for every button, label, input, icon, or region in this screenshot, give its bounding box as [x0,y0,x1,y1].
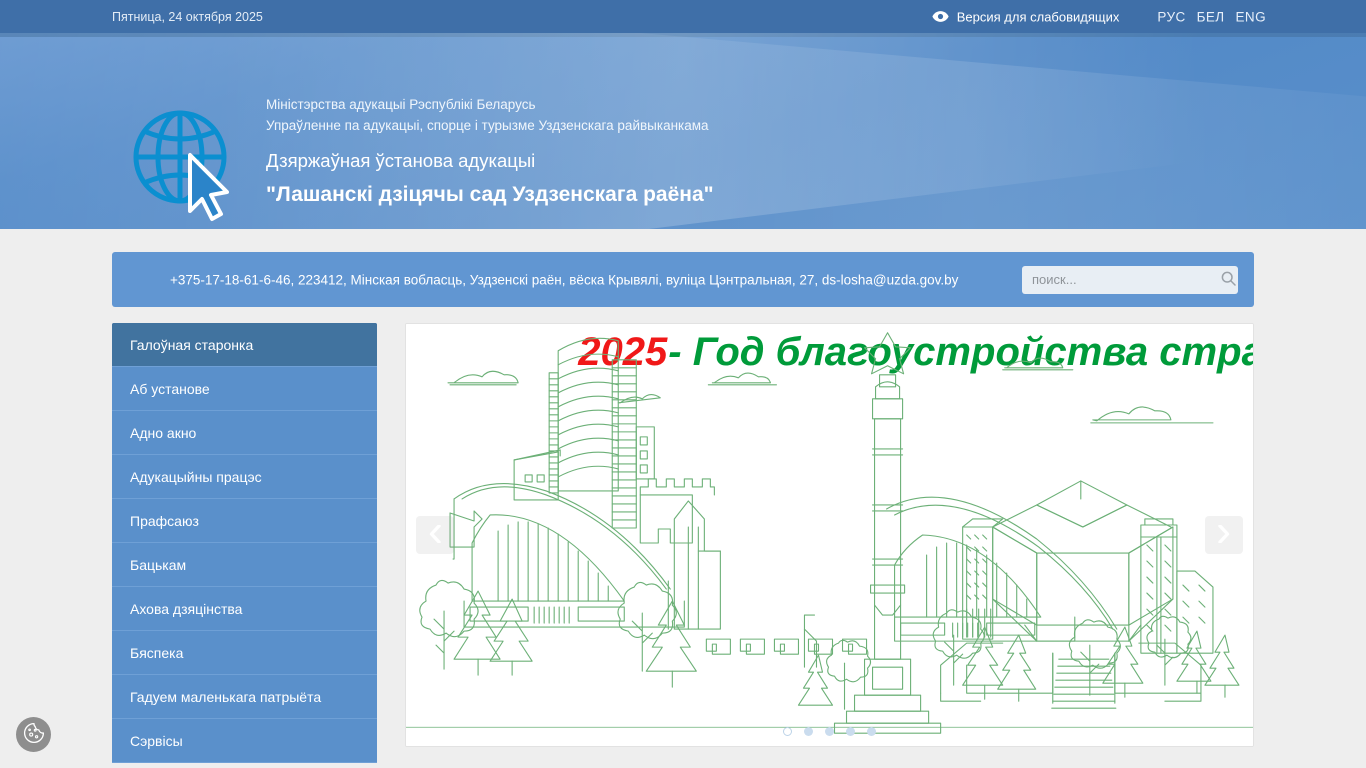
cookie-settings-button[interactable] [16,717,51,752]
sidebar-item-parents[interactable]: Бацькам [112,543,377,587]
slider-dot-3[interactable] [825,727,834,736]
ministry-line: Міністэрства адукацыі Рэспублікі Беларус… [266,94,714,115]
contact-info: +375-17-18-61-6-46, 223412, Мінская вобл… [170,272,958,287]
institution-name: "Лашанскі дзіцячы сад Уздзенскага раёна" [266,182,714,208]
site-header: Міністэрства адукацыі Рэспублікі Беларус… [0,33,1366,229]
search-submit-button[interactable] [1218,266,1238,294]
topbar-right-group: Версия для слабовидящих РУС БЕЛ ENG [932,9,1266,24]
lang-ru[interactable]: РУС [1157,9,1185,24]
search-input[interactable] [1022,266,1218,294]
institution-type: Дзяржаўная ўстанова адукацыі [266,149,714,173]
sidebar-item-education[interactable]: Адукацыйны працэс [112,455,377,499]
hero-slider: 2025 - Год благоустройства страны [405,323,1254,747]
lang-be[interactable]: БЕЛ [1197,9,1225,24]
chevron-right-icon [1217,525,1231,546]
contact-search-bar: +375-17-18-61-6-46, 223412, Мінская вобл… [112,252,1254,307]
svg-text:2025: 2025 [577,330,668,374]
slider-dot-1[interactable] [783,727,792,736]
main-columns: Галоўная старонка Аб установе Адно акно … [112,323,1254,763]
search-box [1022,266,1238,294]
sidebar-item-safety[interactable]: Бяспека [112,631,377,675]
sidebar-item-services[interactable]: Сэрвісы [112,719,377,763]
slider-dot-5[interactable] [867,727,876,736]
accessibility-version-link[interactable]: Версия для слабовидящих [932,9,1120,24]
top-utility-bar: Пятница, 24 октября 2025 Версия для слаб… [0,0,1366,33]
eye-icon [932,11,949,23]
accessibility-version-label: Версия для слабовидящих [957,9,1120,24]
svg-text:- Год благоустройства страны: - Год благоустройства страны [668,330,1253,374]
current-date: Пятница, 24 октября 2025 [112,10,263,24]
globe-cursor-icon [128,210,240,227]
slider-pagination [406,727,1253,736]
slide-artwork: 2025 - Год благоустройства страны [406,324,1253,746]
language-switcher: РУС БЕЛ ENG [1157,9,1266,24]
search-icon [1221,271,1236,289]
slider-dot-4[interactable] [846,727,855,736]
sidebar-item-one-window[interactable]: Адно акно [112,411,377,455]
sidebar-item-childhood[interactable]: Ахова дзяцінства [112,587,377,631]
page-content: +375-17-18-61-6-46, 223412, Мінская вобл… [0,252,1366,763]
cookie-icon [23,722,45,747]
sidebar-item-about[interactable]: Аб установе [112,367,377,411]
sidebar-item-patriot[interactable]: Гадуем маленькага патрыёта [112,675,377,719]
site-logo[interactable] [128,99,240,223]
slider-next-button[interactable] [1205,516,1243,554]
header-titles: Міністэрства адукацыі Рэспублікі Беларус… [266,94,714,208]
main-navigation-sidebar: Галоўная старонка Аб установе Адно акно … [112,323,377,763]
slider-dot-2[interactable] [804,727,813,736]
chevron-left-icon [428,525,442,546]
slider-prev-button[interactable] [416,516,454,554]
sidebar-item-home[interactable]: Галоўная старонка [112,323,377,367]
department-line: Упраўленне па адукацыі, спорце і турызме… [266,115,714,136]
lang-en[interactable]: ENG [1236,9,1266,24]
sidebar-item-union[interactable]: Прафсаюз [112,499,377,543]
